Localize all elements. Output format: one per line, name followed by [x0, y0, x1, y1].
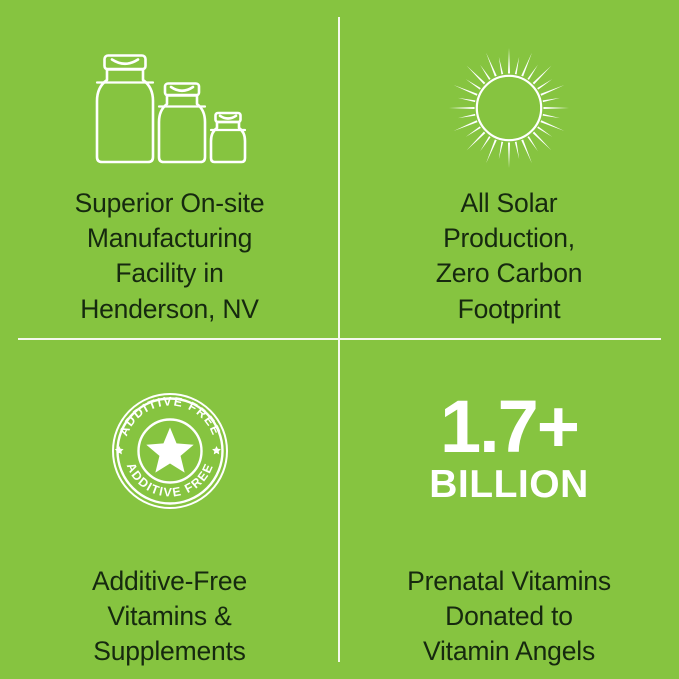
supplement-bottles-icon — [87, 46, 253, 170]
quadrant-additive-free: ADDITIVE FREE ADDITIVE FREE — [0, 339, 339, 679]
quadrant-caption: All Solar Production, Zero Carbon Footpr… — [436, 186, 583, 327]
quadrant-solar: All Solar Production, Zero Carbon Footpr… — [339, 0, 679, 339]
infographic-panel: Superior On-site Manufacturing Facility … — [0, 0, 679, 679]
sun-icon — [447, 46, 571, 170]
quadrant-grid: Superior On-site Manufacturing Facility … — [0, 0, 679, 679]
quadrant-caption: Prenatal Vitamins Donated to Vitamin Ang… — [407, 564, 611, 670]
quadrant-manufacturing: Superior On-site Manufacturing Facility … — [0, 0, 339, 339]
badge-side-star-icon — [212, 446, 221, 454]
quadrant-donation: 1.7+ BILLION Prenatal Vitamins Donated t… — [339, 339, 679, 679]
additive-free-badge-icon: ADDITIVE FREE ADDITIVE FREE — [110, 389, 230, 513]
badge-side-star-icon — [114, 446, 123, 454]
stat-label: BILLION — [429, 465, 588, 504]
stat-number: 1.7+ — [440, 393, 578, 461]
donation-stat: 1.7+ BILLION — [429, 393, 588, 513]
quadrant-caption: Additive-Free Vitamins & Supplements — [92, 564, 247, 670]
badge-center-star-icon — [146, 428, 193, 473]
quadrant-caption: Superior On-site Manufacturing Facility … — [75, 186, 265, 327]
